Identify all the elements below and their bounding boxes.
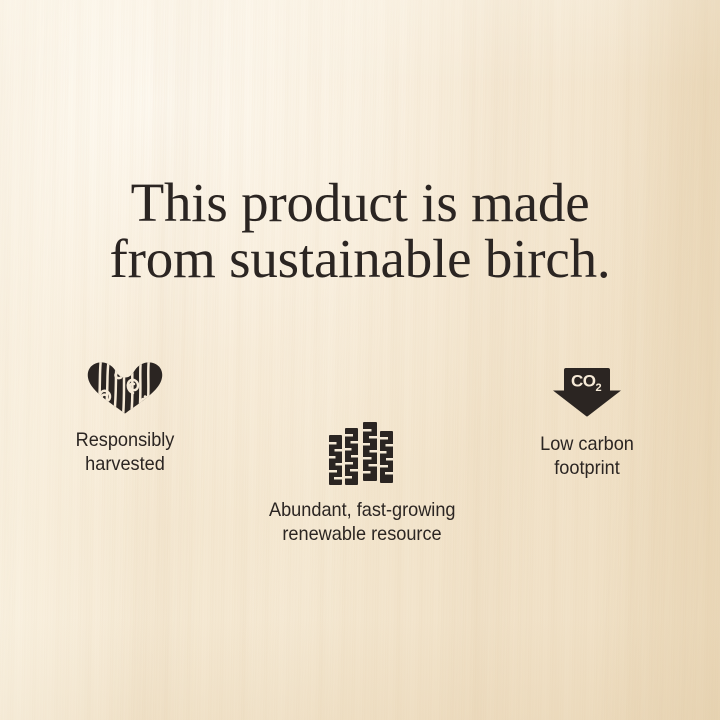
birch-panel: This product is made from sustainable bi… [0, 0, 720, 720]
wood-grain-heart-icon [86, 362, 164, 414]
badge-low-carbon-footprint: CO2 Low carbon footprint [487, 367, 687, 480]
badge-label-line-1: Responsibly [32, 429, 218, 453]
badge-label-line-2: renewable resource [269, 523, 455, 547]
badge-label-responsibly-harvested: Responsibly harvested [32, 429, 218, 476]
badge-label-line-1: Abundant, fast-growing [269, 499, 455, 523]
badge-label-low-carbon-footprint: Low carbon footprint [494, 433, 680, 480]
birch-trunks-icon [328, 422, 396, 485]
co2-down-arrow-icon: CO2 [551, 367, 623, 417]
headline-line-2: from sustainable birch. [0, 231, 720, 287]
co2-subscript: 2 [595, 382, 601, 394]
headline-line-1: This product is made [0, 175, 720, 231]
co2-text: CO [571, 372, 596, 391]
badge-label-line-1: Low carbon [494, 433, 680, 457]
badge-renewable-resource: Abundant, fast-growing renewable resourc… [262, 422, 462, 546]
badge-label-line-2: footprint [494, 457, 680, 481]
page-title: This product is made from sustainable bi… [0, 175, 720, 287]
badge-label-renewable-resource: Abundant, fast-growing renewable resourc… [269, 499, 455, 546]
panel-content: This product is made from sustainable bi… [0, 0, 720, 720]
badge-responsibly-harvested: Responsibly harvested [25, 362, 225, 476]
badge-label-line-2: harvested [32, 453, 218, 477]
